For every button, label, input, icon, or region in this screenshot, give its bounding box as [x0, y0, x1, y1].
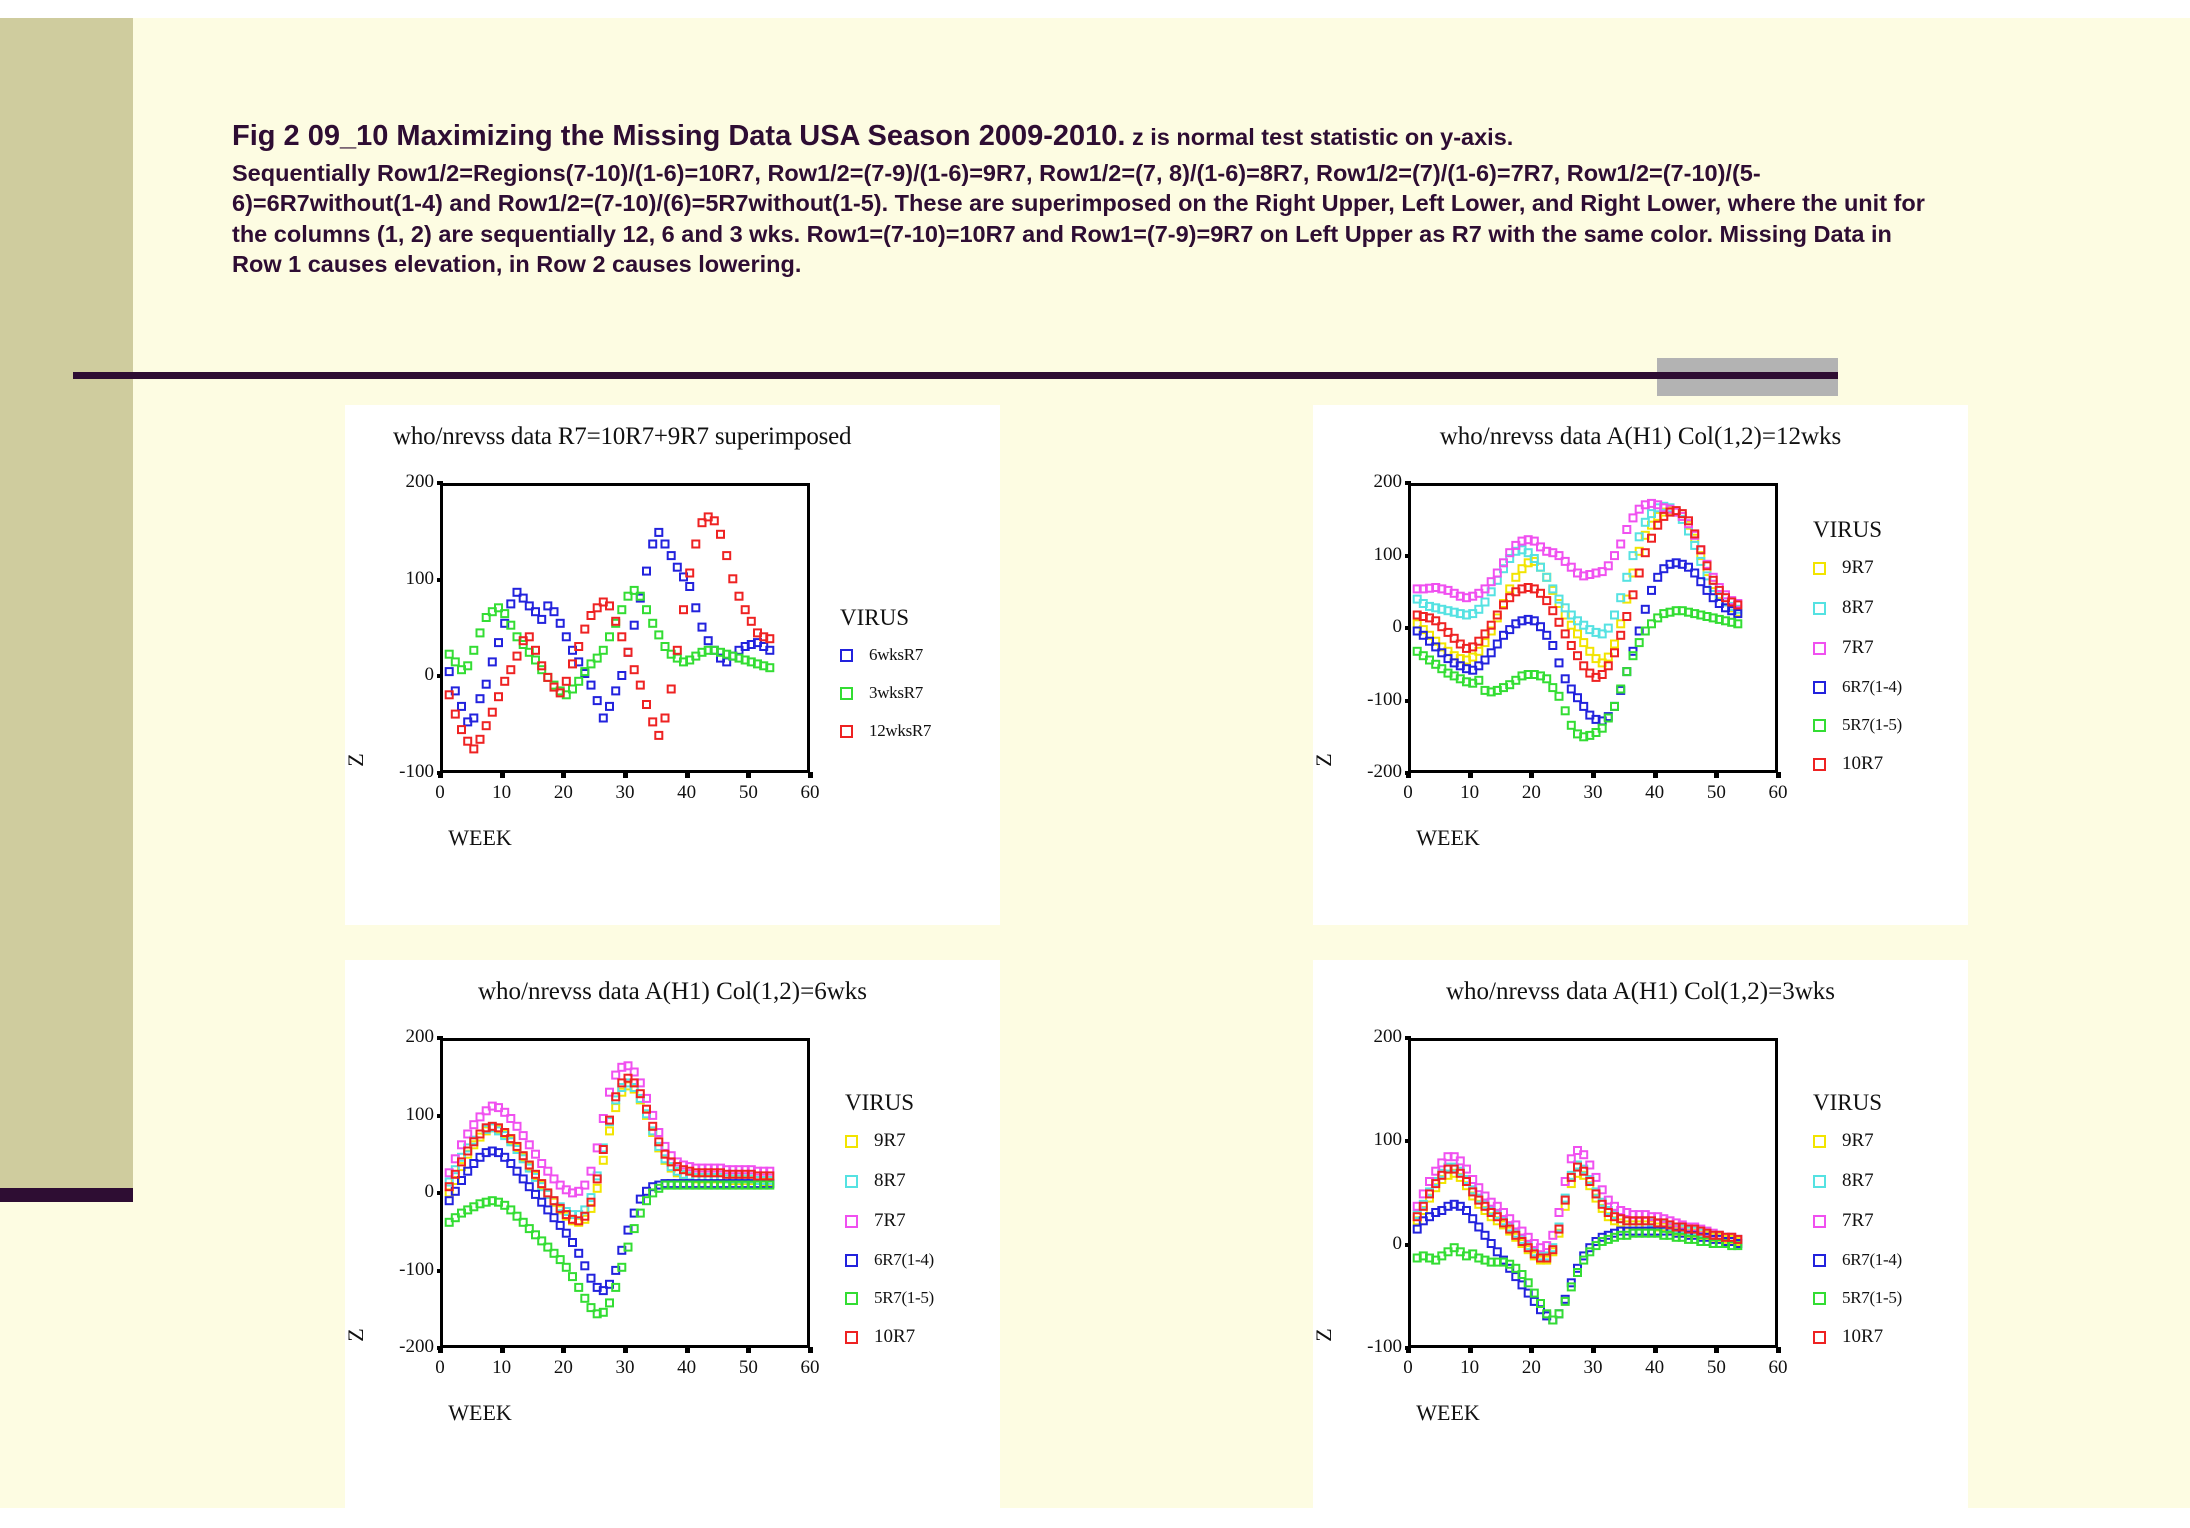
legend-item-label: 6wksR7 — [869, 645, 923, 665]
legend-swatch-icon — [1813, 1254, 1826, 1267]
legend-swatch-icon — [845, 1215, 858, 1228]
x-axis-tick — [561, 772, 566, 778]
x-axis-tick — [1714, 772, 1719, 778]
plot-area — [1408, 483, 1778, 773]
legend-swatch-icon — [1813, 602, 1826, 615]
legend-item[interactable]: 6R7(1-4) — [1813, 677, 1902, 697]
legend-swatch-icon — [1813, 1135, 1826, 1148]
y-axis-tick-label: -200 — [378, 1336, 434, 1358]
x-axis-tick-label: 40 — [662, 782, 712, 804]
x-axis-tick — [438, 772, 443, 778]
legend-swatch-icon — [1813, 1175, 1826, 1188]
x-axis-tick-label: 20 — [1506, 1357, 1556, 1379]
x-axis-tick — [808, 772, 813, 778]
x-axis-tick — [500, 772, 505, 778]
legend-item-label: 3wksR7 — [869, 683, 923, 703]
x-axis-tick-label: 40 — [1630, 1357, 1680, 1379]
y-axis-tick-label: 200 — [1346, 1026, 1402, 1048]
chart-panel-bottom-right: who/nrevss data A(H1) Col(1,2)=3wks20010… — [1313, 960, 1968, 1508]
chart-title: who/nrevss data R7=10R7+9R7 superimposed — [345, 423, 1000, 451]
x-axis-tick-label: 10 — [477, 1357, 527, 1379]
x-axis-tick — [623, 772, 628, 778]
slide-bottom-margin — [0, 1508, 2190, 1528]
y-axis-tick-label: 0 — [1346, 1233, 1402, 1255]
x-axis-tick-label: 30 — [600, 782, 650, 804]
x-axis-label: WEEK — [420, 1400, 540, 1426]
page-subtitle: z is normal test statistic on y-axis. — [1125, 124, 1513, 150]
legend-item[interactable]: 9R7 — [845, 1130, 934, 1152]
y-axis-tick — [437, 578, 443, 582]
legend-item-label: 9R7 — [1842, 557, 1874, 579]
legend-item[interactable]: 6R7(1-4) — [1813, 1250, 1902, 1270]
legend-item-label: 6R7(1-4) — [1842, 677, 1902, 697]
x-axis-tick-label: 50 — [723, 1357, 773, 1379]
chart-panel-top-right: who/nrevss data A(H1) Col(1,2)=12wks2001… — [1313, 405, 1968, 925]
legend-item[interactable]: 6R7(1-4) — [845, 1250, 934, 1270]
legend-item[interactable]: 9R7 — [1813, 1130, 1902, 1152]
chart-panel-bottom-left: who/nrevss data A(H1) Col(1,2)=6wks20010… — [345, 960, 1000, 1508]
x-axis-tick — [1591, 772, 1596, 778]
x-axis-tick — [746, 1347, 751, 1353]
x-axis-tick — [1468, 772, 1473, 778]
x-axis-tick — [1653, 1347, 1658, 1353]
y-axis-label: Z — [343, 1315, 369, 1355]
y-axis-tick-label: -200 — [1346, 761, 1402, 783]
legend-swatch-icon — [1813, 1215, 1826, 1228]
x-axis-tick-label: 20 — [538, 1357, 588, 1379]
x-axis-tick-label: 30 — [1568, 782, 1618, 804]
x-axis-tick — [1468, 1347, 1473, 1353]
legend-item[interactable]: 12wksR7 — [840, 721, 931, 741]
x-axis-tick — [561, 1347, 566, 1353]
plot-markers — [443, 1041, 813, 1351]
legend-swatch-icon — [1813, 642, 1826, 655]
legend-item-label: 6R7(1-4) — [874, 1250, 934, 1270]
x-axis-tick-label: 60 — [785, 782, 835, 804]
legend-item-label: 5R7(1-5) — [874, 1288, 934, 1308]
x-axis-tick-label: 10 — [1445, 782, 1495, 804]
y-axis-tick-label: 0 — [378, 664, 434, 686]
y-axis-tick-label: 100 — [1346, 544, 1402, 566]
legend-item-label: 10R7 — [1842, 753, 1883, 775]
y-axis-tick-label: 200 — [378, 1026, 434, 1048]
y-axis-tick — [1405, 1139, 1411, 1143]
x-axis-tick-label: 0 — [415, 1357, 465, 1379]
legend-item[interactable]: 5R7(1-5) — [1813, 1288, 1902, 1308]
legend-item[interactable]: 8R7 — [1813, 597, 1902, 619]
legend-item-label: 8R7 — [1842, 1170, 1874, 1192]
y-axis-tick — [437, 1269, 443, 1273]
series-6R71-4 — [1414, 1201, 1742, 1324]
legend-item[interactable]: 10R7 — [1813, 753, 1902, 775]
y-axis-tick — [1405, 554, 1411, 558]
x-axis-tick — [1653, 772, 1658, 778]
legend-title: VIRUS — [845, 1090, 934, 1116]
y-axis-label: Z — [1311, 1315, 1337, 1355]
legend-item[interactable]: 6wksR7 — [840, 645, 931, 665]
plot-markers — [1411, 1041, 1781, 1351]
legend-item-label: 6R7(1-4) — [1842, 1250, 1902, 1270]
x-axis-tick — [1714, 1347, 1719, 1353]
x-axis-tick-label: 50 — [1691, 1357, 1741, 1379]
x-axis-tick — [1591, 1347, 1596, 1353]
page-title: Fig 2 09_10 Maximizing the Missing Data … — [232, 120, 1125, 152]
left-decor-band-foot — [0, 1188, 133, 1202]
x-axis-tick-label: 0 — [415, 782, 465, 804]
x-axis-tick-label: 60 — [1753, 1357, 1803, 1379]
x-axis-tick — [685, 772, 690, 778]
x-axis-tick-label: 50 — [723, 782, 773, 804]
legend-title: VIRUS — [1813, 517, 1902, 543]
legend-swatch-icon — [1813, 1331, 1826, 1344]
legend-item[interactable]: 5R7(1-5) — [845, 1288, 934, 1308]
legend-item[interactable]: 7R7 — [845, 1210, 934, 1232]
x-axis-tick-label: 40 — [1630, 782, 1680, 804]
chart-legend: VIRUS9R78R77R76R7(1-4)5R7(1-5)10R7 — [1813, 517, 1902, 793]
legend-item-label: 9R7 — [874, 1130, 906, 1152]
y-axis-tick-label: -100 — [1346, 689, 1402, 711]
legend-item-label: 7R7 — [1842, 1210, 1874, 1232]
x-axis-tick-label: 0 — [1383, 782, 1433, 804]
y-axis-tick-label: 100 — [378, 1104, 434, 1126]
legend-item-label: 12wksR7 — [869, 721, 931, 741]
x-axis-tick — [1776, 1347, 1781, 1353]
x-axis-tick-label: 20 — [1506, 782, 1556, 804]
legend-item[interactable]: 7R7 — [1813, 1210, 1902, 1232]
legend-title: VIRUS — [1813, 1090, 1902, 1116]
y-axis-tick — [1405, 699, 1411, 703]
legend-item[interactable]: 7R7 — [1813, 637, 1902, 659]
y-axis-tick-label: 100 — [378, 568, 434, 590]
plot-area — [1408, 1038, 1778, 1348]
y-axis-tick — [1405, 1036, 1411, 1040]
y-axis-tick-label: 100 — [1346, 1129, 1402, 1151]
y-axis-tick — [1405, 626, 1411, 630]
legend-item-label: 5R7(1-5) — [1842, 1288, 1902, 1308]
legend-swatch-icon — [1813, 681, 1826, 694]
x-axis-tick-label: 60 — [1753, 782, 1803, 804]
x-axis-label: WEEK — [420, 825, 540, 851]
legend-swatch-icon — [840, 725, 853, 738]
x-axis-tick-label: 10 — [1445, 1357, 1495, 1379]
legend-item-label: 10R7 — [874, 1326, 915, 1348]
x-axis-tick-label: 10 — [477, 782, 527, 804]
x-axis-tick — [1776, 772, 1781, 778]
series-5R71-5 — [446, 1182, 774, 1318]
x-axis-tick — [1529, 1347, 1534, 1353]
legend-swatch-icon — [1813, 1292, 1826, 1305]
legend-item-label: 5R7(1-5) — [1842, 715, 1902, 735]
y-axis-tick — [437, 1036, 443, 1040]
legend-swatch-icon — [845, 1175, 858, 1188]
legend-item-label: 7R7 — [1842, 637, 1874, 659]
legend-swatch-icon — [1813, 562, 1826, 575]
chart-title: who/nrevss data A(H1) Col(1,2)=6wks — [345, 978, 1000, 1006]
y-axis-tick — [437, 674, 443, 678]
x-axis-tick-label: 0 — [1383, 1357, 1433, 1379]
x-axis-tick-label: 40 — [662, 1357, 712, 1379]
left-decor-band — [0, 18, 133, 1188]
x-axis-tick — [1406, 1347, 1411, 1353]
y-axis-tick-label: -100 — [1346, 1336, 1402, 1358]
y-axis-tick-label: 0 — [378, 1181, 434, 1203]
y-axis-tick — [437, 1114, 443, 1118]
x-axis-label: WEEK — [1388, 825, 1508, 851]
x-axis-tick — [1529, 772, 1534, 778]
x-axis-tick — [746, 772, 751, 778]
legend-swatch-icon — [1813, 719, 1826, 732]
chart-title: who/nrevss data A(H1) Col(1,2)=12wks — [1313, 423, 1968, 451]
x-axis-tick — [500, 1347, 505, 1353]
y-axis-tick — [1405, 1243, 1411, 1247]
y-axis-tick-label: 200 — [1346, 471, 1402, 493]
chart-legend: VIRUS9R78R77R76R7(1-4)5R7(1-5)10R7 — [845, 1090, 934, 1366]
legend-title: VIRUS — [840, 605, 931, 631]
y-axis-tick — [1405, 481, 1411, 485]
slide-top-margin — [0, 0, 2190, 18]
page-description: Sequentially Row1/2=Regions(7-10)/(1-6)=… — [232, 158, 1932, 280]
x-axis-tick-label: 20 — [538, 782, 588, 804]
chart-legend: VIRUS6wksR73wksR712wksR7 — [840, 605, 931, 759]
x-axis-tick-label: 30 — [1568, 1357, 1618, 1379]
x-axis-tick — [623, 1347, 628, 1353]
x-axis-tick-label: 50 — [1691, 782, 1741, 804]
legend-item[interactable]: 8R7 — [1813, 1170, 1902, 1192]
slide-canvas: Fig 2 09_10 Maximizing the Missing Data … — [0, 0, 2190, 1528]
header-divider-rule — [73, 372, 1838, 379]
x-axis-tick — [1406, 772, 1411, 778]
plot-markers — [1411, 486, 1781, 776]
legend-item-label: 9R7 — [1842, 1130, 1874, 1152]
y-axis-tick — [437, 1191, 443, 1195]
chart-legend: VIRUS9R78R77R76R7(1-4)5R7(1-5)10R7 — [1813, 1090, 1902, 1366]
chart-title: who/nrevss data A(H1) Col(1,2)=3wks — [1313, 978, 1968, 1006]
legend-item-label: 10R7 — [1842, 1326, 1883, 1348]
x-axis-tick — [685, 1347, 690, 1353]
series-7R7 — [1414, 500, 1742, 607]
legend-item[interactable]: 3wksR7 — [840, 683, 931, 703]
legend-item-label: 8R7 — [1842, 597, 1874, 619]
y-axis-tick — [437, 481, 443, 485]
legend-swatch-icon — [840, 649, 853, 662]
legend-swatch-icon — [845, 1254, 858, 1267]
legend-swatch-icon — [845, 1331, 858, 1344]
series-5R71-5 — [1414, 607, 1742, 740]
legend-item[interactable]: 10R7 — [1813, 1326, 1902, 1348]
plot-area — [440, 1038, 810, 1348]
x-axis-tick-label: 60 — [785, 1357, 835, 1379]
y-axis-label: Z — [1311, 740, 1337, 780]
legend-swatch-icon — [1813, 758, 1826, 771]
y-axis-tick-label: -100 — [378, 761, 434, 783]
series-5R71-5 — [1414, 1230, 1742, 1324]
legend-item[interactable]: 8R7 — [845, 1170, 934, 1192]
x-axis-tick — [808, 1347, 813, 1353]
legend-swatch-icon — [845, 1135, 858, 1148]
legend-swatch-icon — [840, 687, 853, 700]
y-axis-label: Z — [343, 740, 369, 780]
x-axis-tick-label: 30 — [600, 1357, 650, 1379]
legend-swatch-icon — [845, 1292, 858, 1305]
chart-panel-top-left: who/nrevss data R7=10R7+9R7 superimposed… — [345, 405, 1000, 925]
legend-item[interactable]: 10R7 — [845, 1326, 934, 1348]
legend-item-label: 8R7 — [874, 1170, 906, 1192]
legend-item[interactable]: 5R7(1-5) — [1813, 715, 1902, 735]
y-axis-tick-label: 200 — [378, 471, 434, 493]
x-axis-label: WEEK — [1388, 1400, 1508, 1426]
slide-header: Fig 2 09_10 Maximizing the Missing Data … — [232, 118, 1932, 280]
y-axis-tick-label: -100 — [378, 1259, 434, 1281]
y-axis-tick-label: 0 — [1346, 616, 1402, 638]
x-axis-tick — [438, 1347, 443, 1353]
legend-item-label: 7R7 — [874, 1210, 906, 1232]
legend-item[interactable]: 9R7 — [1813, 557, 1902, 579]
plot-area — [440, 483, 810, 773]
plot-markers — [443, 486, 813, 776]
